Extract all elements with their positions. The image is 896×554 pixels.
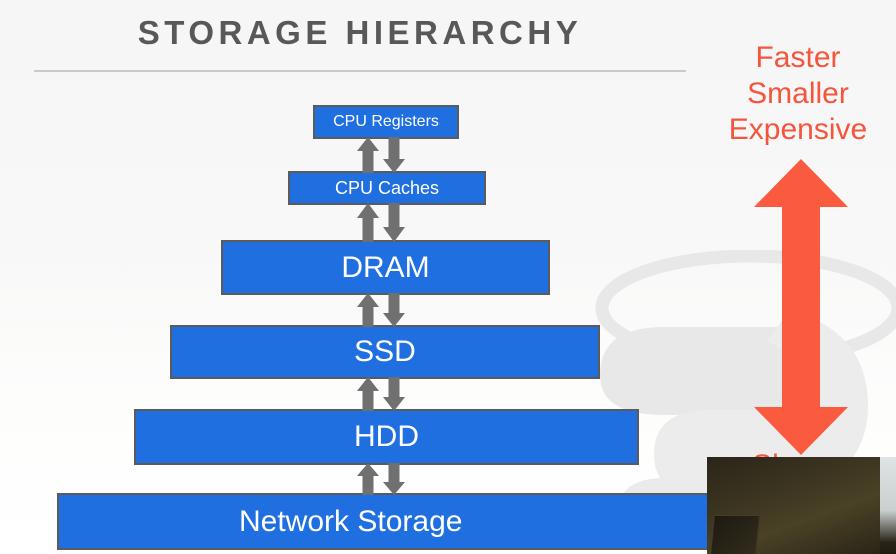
hierarchy-box-label: Network Storage [239,505,462,539]
connector-arrows-dram-ssd [356,293,406,327]
hierarchy-box-label: SSD [354,335,416,369]
hierarchy-box-cpu-registers[interactable]: CPU Registers [313,105,459,139]
hierarchy-box-label: CPU Registers [333,113,439,131]
connector-arrows-hdd-network [356,463,406,495]
tradeoff-label-smaller: Smaller [700,76,896,112]
webcam-overlay[interactable] [707,457,880,554]
double-arrow-icon [752,159,850,455]
connector-arrows-caches-dram [356,203,406,242]
webcam-foreground-object [711,515,760,554]
webcam-overlay-edge [880,457,896,554]
tradeoff-label-faster: Faster [700,40,896,76]
slide-canvas: STORAGE HIERARCHY CPU Registers CPU Cach… [0,0,896,554]
hierarchy-box-label: DRAM [341,251,429,285]
tradeoff-label-expensive: Expensive [700,112,896,148]
hierarchy-box-label: HDD [354,420,419,454]
hierarchy-box-label: CPU Caches [335,178,439,199]
title-divider [34,70,686,72]
hierarchy-box-network-storage[interactable]: Network Storage [57,493,711,550]
page-title: STORAGE HIERARCHY [34,14,686,52]
hierarchy-box-ssd[interactable]: SSD [170,325,600,379]
hierarchy-box-cpu-caches[interactable]: CPU Caches [288,171,486,205]
connector-arrows-registers-caches [356,137,406,173]
tradeoff-top-labels: Faster Smaller Expensive [700,40,896,148]
hierarchy-box-dram[interactable]: DRAM [221,240,550,295]
hierarchy-box-hdd[interactable]: HDD [134,409,639,465]
connector-arrows-ssd-hdd [356,377,406,411]
